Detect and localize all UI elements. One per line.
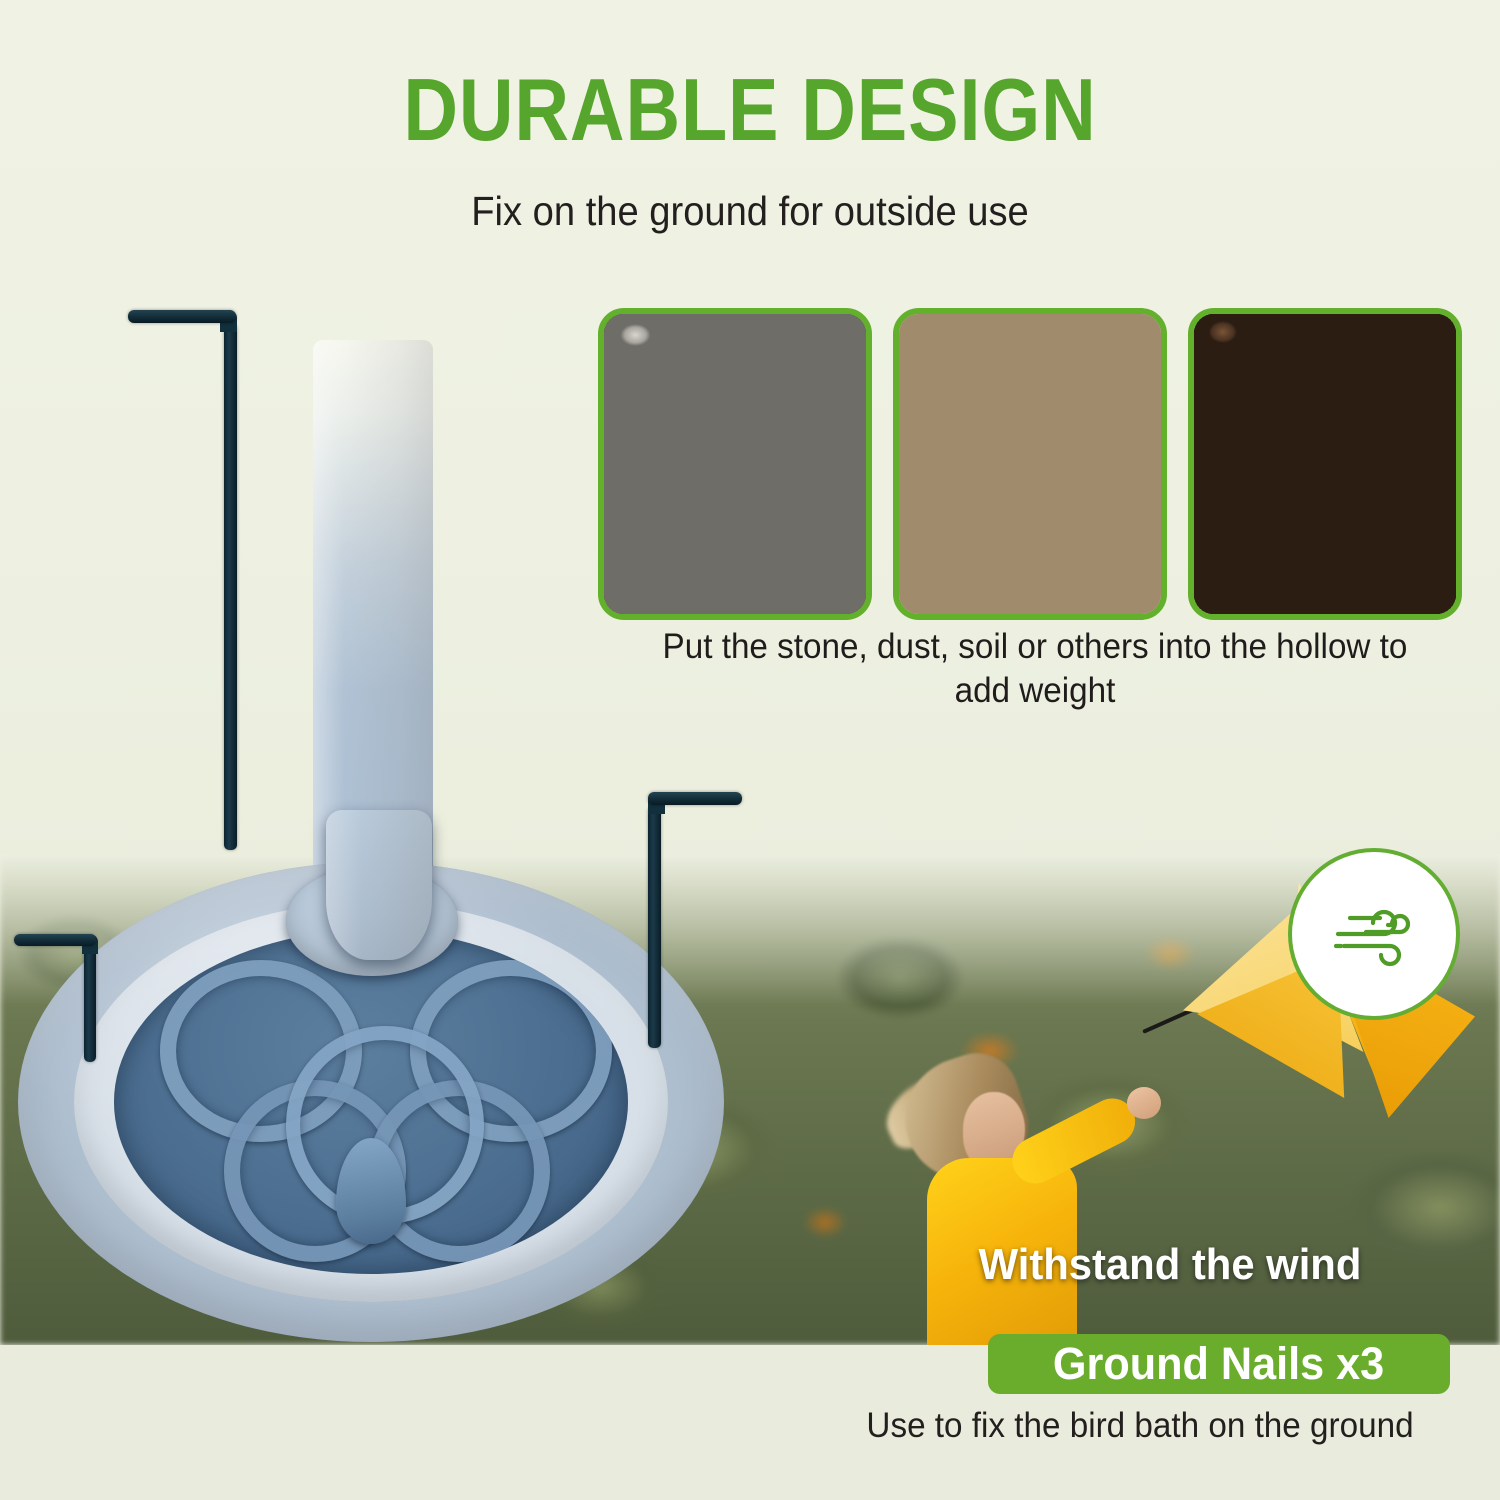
ground-nail-3 <box>14 934 110 1062</box>
nail-hook <box>14 934 96 946</box>
wind-icon <box>1322 882 1426 986</box>
nail-shank <box>84 946 96 1062</box>
ground-nails-badge: Ground Nails x3 <box>988 1334 1450 1394</box>
page-subtitle: Fix on the ground for outside use <box>53 186 1448 236</box>
soil-texture <box>1194 314 1456 614</box>
nail-shank <box>648 806 661 1048</box>
fill-material-caption: Put the stone, dust, soil or others into… <box>660 625 1411 713</box>
swatch-gravel-stone <box>598 308 872 620</box>
pole-texture <box>313 340 433 870</box>
ground-nails-badge-label: Ground Nails x3 <box>1053 1339 1384 1389</box>
withstand-wind-overlay: Withstand the wind <box>885 1238 1455 1292</box>
neck-speckle-texture <box>326 810 432 960</box>
woman-in-raincoat <box>905 1040 1155 1360</box>
wind-badge <box>1288 848 1460 1020</box>
swatch-sand-dust <box>893 308 1167 620</box>
swatch-soil <box>1188 308 1462 620</box>
fill-material-swatches <box>598 308 1462 620</box>
page-title: DURABLE DESIGN <box>105 62 1395 158</box>
pole-neck <box>326 810 432 960</box>
base-scrollwork-panel <box>114 930 628 1274</box>
footer-caption: Use to fix the bird bath on the ground <box>808 1404 1473 1448</box>
nail-shank <box>224 324 237 850</box>
ground-nail-1 <box>128 310 248 850</box>
infographic-root: DURABLE DESIGN Fix on the ground for out… <box>0 0 1500 1500</box>
sand-dust-texture <box>899 314 1161 614</box>
ornate-cast-iron-base <box>18 862 724 1342</box>
ground-nail-2 <box>648 792 748 1048</box>
gravel-stone-texture <box>604 314 866 614</box>
nail-hook <box>128 310 236 323</box>
bird-bath-pole <box>313 340 433 870</box>
nail-hook <box>648 792 742 805</box>
